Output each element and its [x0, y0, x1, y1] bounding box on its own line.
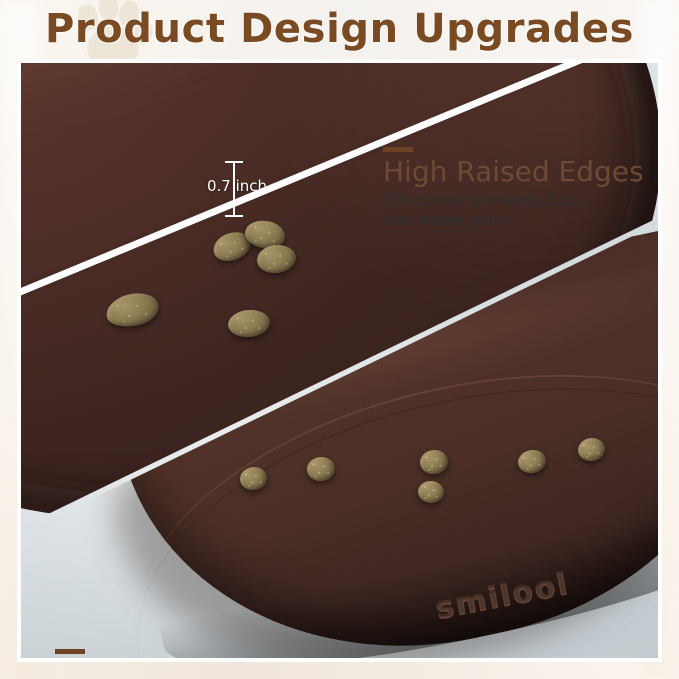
accent-bar: [55, 649, 85, 654]
callout-keeping-floor-clean: Keeping the floor clean Minimizes time s…: [55, 649, 655, 658]
callout-title-accent: clean: [295, 656, 368, 658]
dimension-cap-bottom: [225, 215, 243, 217]
title-area: Product Design Upgrades: [0, 0, 679, 62]
callout-subtitle: Effectively prevents food and water spil…: [383, 191, 658, 231]
page-title: Product Design Upgrades: [0, 6, 679, 52]
dimension-callout: 0.7 inch: [207, 155, 299, 223]
callout-high-raised-edges: High Raised Edges Effectively prevents f…: [383, 147, 658, 231]
callout-subtitle-line-1: Effectively prevents food: [383, 191, 658, 211]
product-infographic-canvas: Product Design Upgrades: [0, 0, 679, 679]
callout-subtitle-line-2: and water spills: [383, 211, 658, 231]
callout-title: Keeping the floor clean: [55, 657, 655, 658]
callout-title-main: Keeping the floor: [55, 656, 295, 658]
accent-bar: [383, 147, 413, 152]
callout-title: High Raised Edges: [383, 157, 658, 187]
product-photo: 0.7 inch High Raised Edges Effectively p…: [21, 63, 658, 658]
